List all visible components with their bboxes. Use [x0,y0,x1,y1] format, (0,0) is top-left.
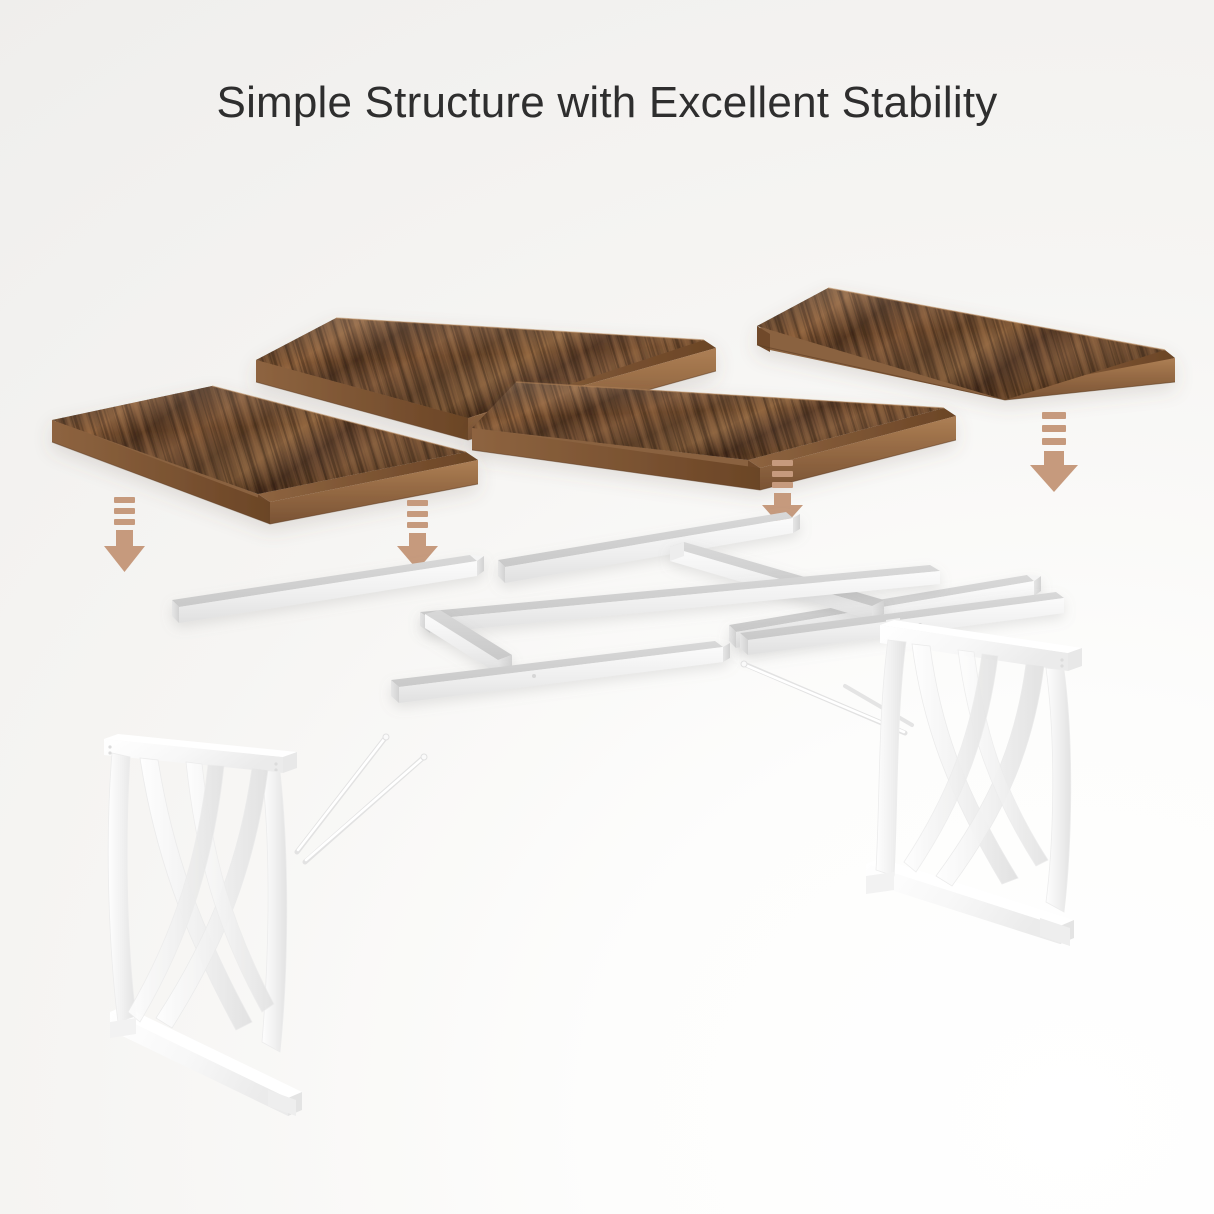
diagram-canvas: Simple Structure with Excellent Stabilit… [0,0,1214,1214]
assembly-arrow-1 [100,492,150,576]
leg-right[interactable] [864,618,1079,948]
rail-front-left[interactable] [389,640,731,706]
assembly-arrow-2 [394,496,442,574]
leg-left[interactable] [100,730,305,1120]
assembly-arrow-3 [760,456,808,532]
panel-right[interactable] [757,286,1177,404]
assembly-arrow-4 [1028,408,1082,496]
